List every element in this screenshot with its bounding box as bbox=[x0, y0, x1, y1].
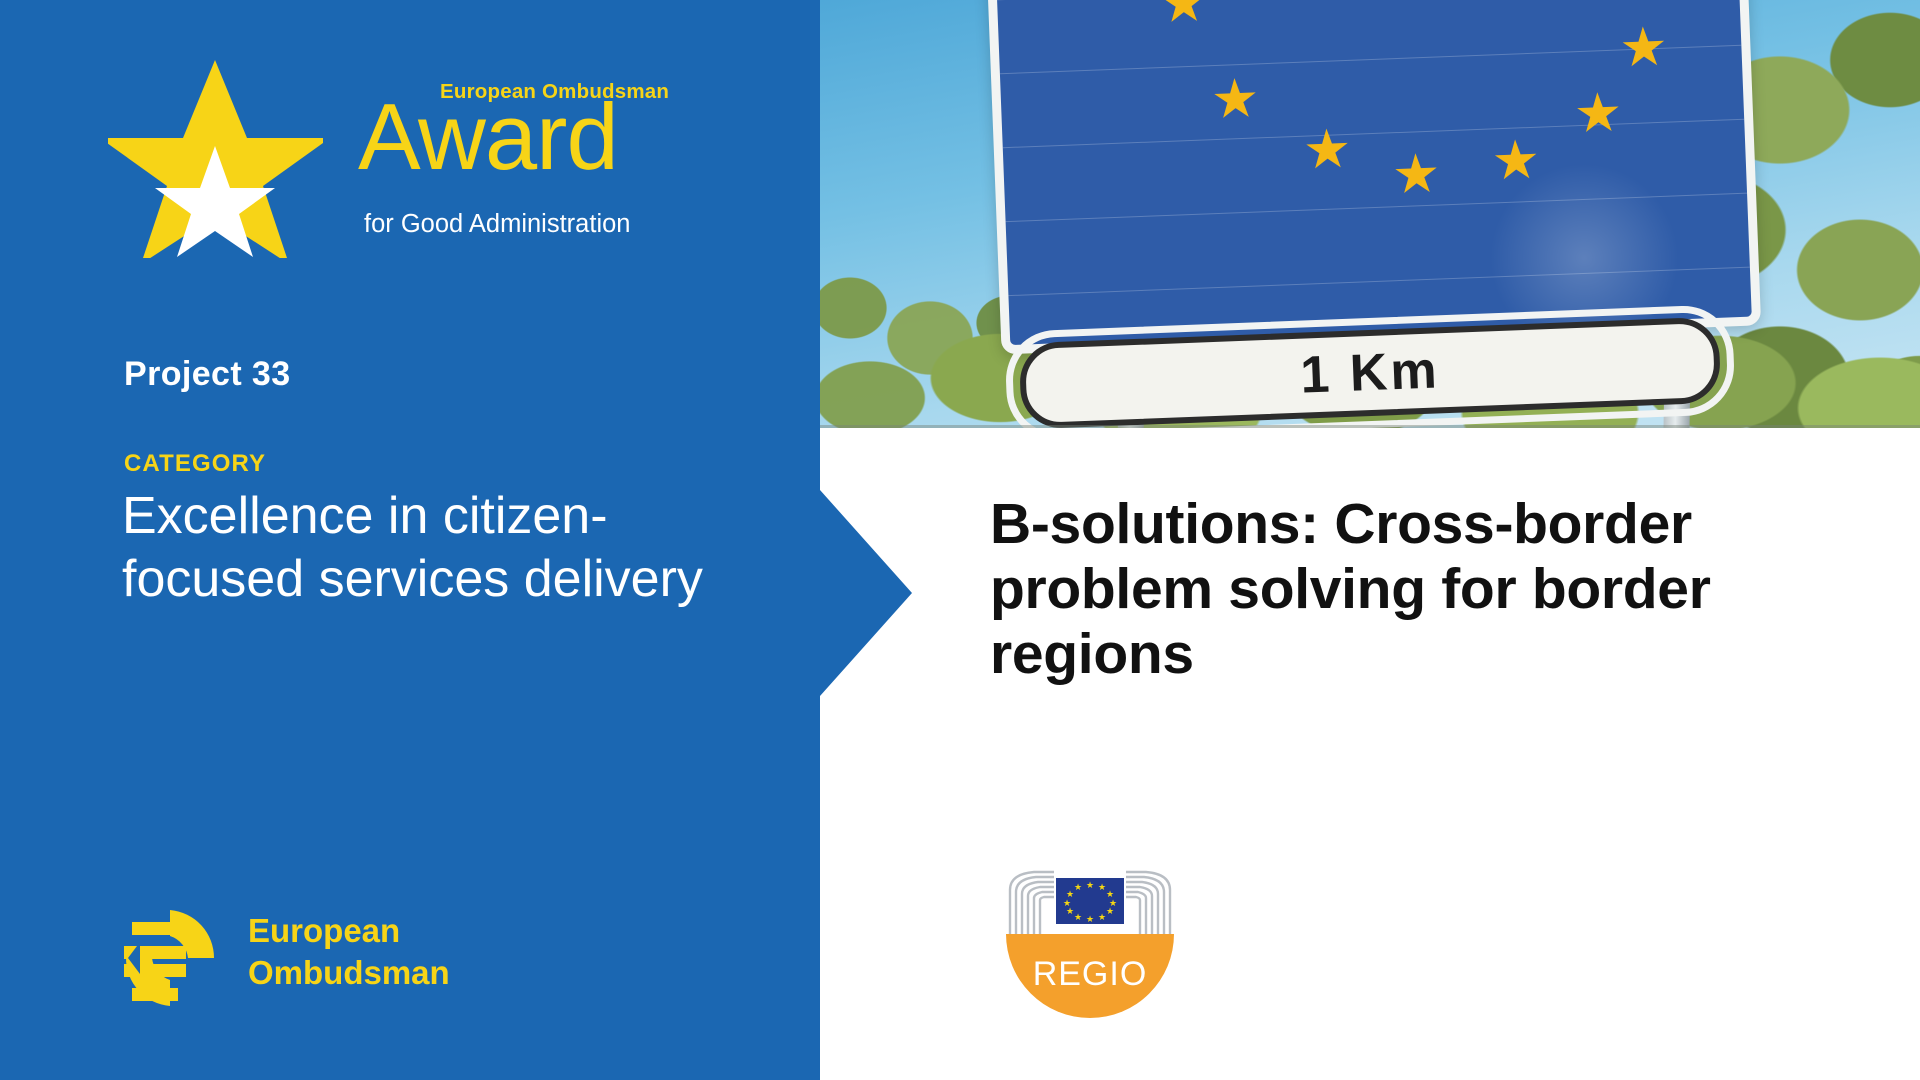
european-ombudsman-logo: European Ombudsman bbox=[118, 902, 548, 1022]
svg-text:★: ★ bbox=[1106, 906, 1114, 916]
poster-canvas: ★ ★ ★ ★ ★ ★ ★ ★ ★ ★ ★ 1 Km European Ombu… bbox=[0, 0, 1920, 1080]
eu-border-sign: ★ ★ ★ ★ ★ ★ ★ ★ ★ ★ ★ bbox=[983, 0, 1761, 354]
award-logo: European Ombudsman Award for Good Admini… bbox=[108, 58, 688, 268]
eu-star-icon: ★ bbox=[1158, 0, 1208, 31]
photo-bottom-edge bbox=[820, 425, 1920, 428]
award-word-text: Award bbox=[358, 90, 618, 184]
header-photo: ★ ★ ★ ★ ★ ★ ★ ★ ★ ★ ★ 1 Km bbox=[820, 0, 1920, 428]
project-number: Project 33 bbox=[124, 355, 291, 394]
category-kicker: CATEGORY bbox=[124, 450, 266, 478]
regio-logo: ★ ★ ★ ★ ★ ★ ★ ★ ★ ★ ★ ★ REGIO bbox=[1000, 860, 1180, 1020]
regio-badge: REGIO bbox=[1006, 934, 1174, 1018]
svg-text:★: ★ bbox=[1074, 882, 1082, 892]
svg-text:★: ★ bbox=[1066, 906, 1074, 916]
svg-text:★: ★ bbox=[1086, 914, 1094, 924]
eu-star-icon: ★ bbox=[1210, 71, 1260, 127]
award-subtitle-text: for Good Administration bbox=[364, 210, 630, 239]
eu-star-icon: ★ bbox=[1573, 85, 1623, 141]
ombudsman-line-2: Ombudsman bbox=[248, 952, 450, 994]
svg-text:★: ★ bbox=[1098, 912, 1106, 922]
svg-text:★: ★ bbox=[1074, 912, 1082, 922]
eu-star-icon: ★ bbox=[1302, 122, 1352, 178]
category-name: Excellence in citizen-focused services d… bbox=[122, 485, 732, 612]
svg-text:★: ★ bbox=[1086, 880, 1094, 890]
project-title: B-solutions: Cross-border problem solvin… bbox=[990, 492, 1820, 687]
svg-text:★: ★ bbox=[1098, 882, 1106, 892]
eu-star-icon: ★ bbox=[1391, 146, 1441, 202]
ombudsman-emblem-icon bbox=[118, 906, 222, 1010]
award-wordmark: European Ombudsman Award for Good Admini… bbox=[358, 58, 698, 263]
distance-plate-text: 1 Km bbox=[1299, 340, 1440, 405]
award-star-icon bbox=[108, 58, 323, 258]
ombudsman-line-1: European bbox=[248, 910, 450, 952]
ombudsman-wordmark: European Ombudsman bbox=[248, 910, 450, 993]
regio-label: REGIO bbox=[1033, 955, 1148, 994]
eu-star-icon: ★ bbox=[1618, 20, 1668, 76]
